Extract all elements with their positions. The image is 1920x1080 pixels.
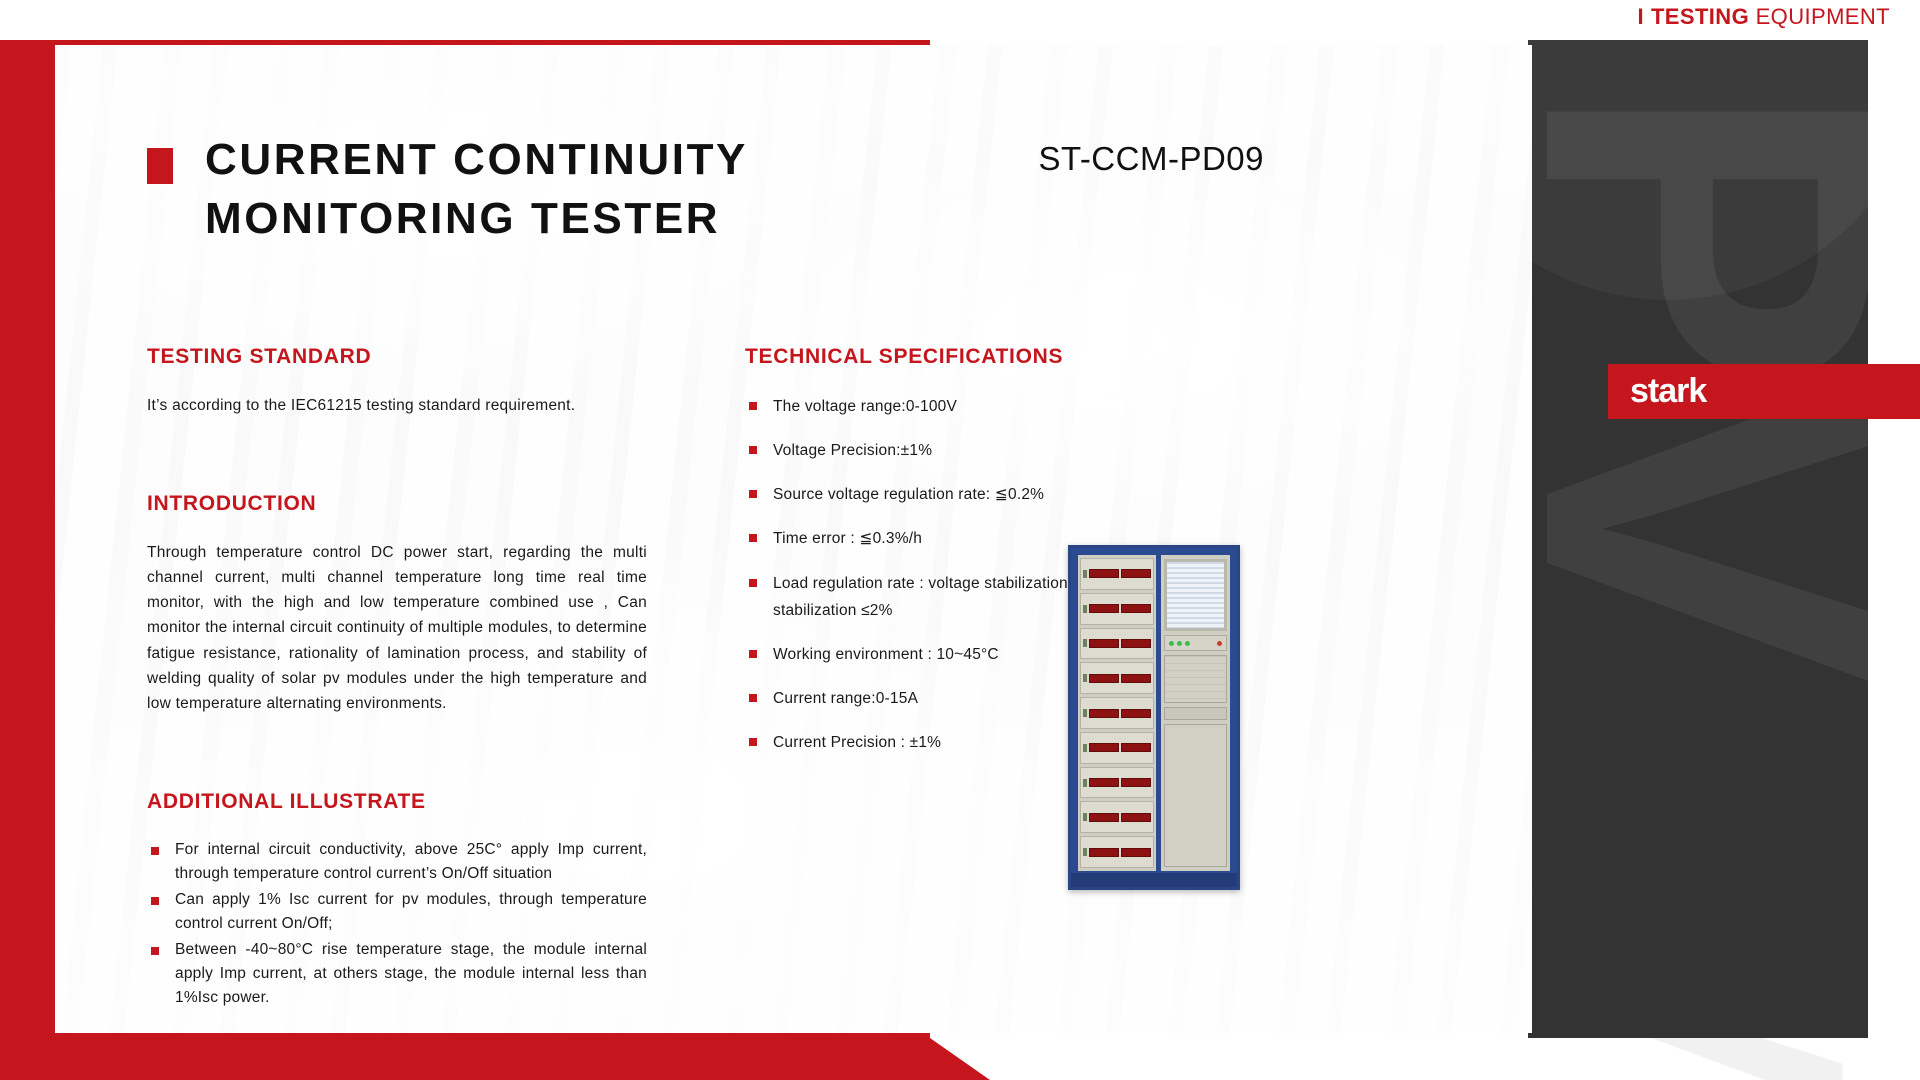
status-led-icon <box>1083 779 1087 787</box>
display-icon <box>1121 778 1151 787</box>
power-led-icon <box>1185 641 1190 646</box>
dark-side-panel: PV <box>1528 40 1868 1038</box>
rack-lower-panel <box>1164 724 1227 867</box>
header-title-light: EQUIPMENT <box>1756 4 1890 29</box>
rack-module <box>1080 558 1154 590</box>
content-card: CURRENT CONTINUITY MONITORING TESTER ST-… <box>55 45 1532 1033</box>
brand-logo-text: stark <box>1630 372 1706 411</box>
status-led-icon <box>1083 605 1087 613</box>
list-item: The voltage range:0-100V <box>745 393 1225 420</box>
status-led-icon <box>1083 639 1087 647</box>
status-led-icon <box>1083 709 1087 717</box>
status-led-icon <box>1083 744 1087 752</box>
top-header: ITESTING EQUIPMENT <box>0 0 1920 40</box>
left-column: TESTING STANDARD It’s according to the I… <box>147 345 647 1012</box>
rack-computer-unit <box>1164 655 1227 703</box>
model-number: ST-CCM-PD09 <box>1038 140 1264 178</box>
header-bar-glyph: I <box>1637 4 1644 29</box>
brand-logo-band: stark <box>1608 364 1920 419</box>
status-led-icon <box>1083 848 1087 856</box>
status-led-icon <box>1083 674 1087 682</box>
list-item: Between -40~80°C rise temperature stage,… <box>147 938 647 1010</box>
display-icon <box>1121 848 1151 857</box>
display-icon <box>1089 709 1119 718</box>
alarm-led-icon <box>1217 641 1222 646</box>
title-row: CURRENT CONTINUITY MONITORING TESTER <box>147 130 1007 249</box>
display-icon <box>1089 778 1119 787</box>
display-icon <box>1089 569 1119 578</box>
display-icon <box>1121 709 1151 718</box>
display-icon <box>1089 639 1119 648</box>
card-content: CURRENT CONTINUITY MONITORING TESTER ST-… <box>55 45 1532 1033</box>
display-icon <box>1089 743 1119 752</box>
display-icon <box>1121 813 1151 822</box>
display-icon <box>1121 569 1151 578</box>
testing-standard-heading: TESTING STANDARD <box>147 345 647 369</box>
display-icon <box>1089 848 1119 857</box>
rack-module <box>1080 836 1154 868</box>
list-item: Can apply 1% Isc current for pv modules,… <box>147 888 647 936</box>
rack-base <box>1071 873 1237 887</box>
list-item: Source voltage regulation rate: ≦0.2% <box>745 481 1225 508</box>
display-icon <box>1121 674 1151 683</box>
introduction-text: Through temperature control DC power sta… <box>147 540 647 716</box>
rack-module <box>1080 697 1154 729</box>
rack-module <box>1080 767 1154 799</box>
header-title: ITESTING EQUIPMENT <box>1637 4 1890 30</box>
status-led-icon <box>1083 570 1087 578</box>
introduction-heading: INTRODUCTION <box>147 492 647 516</box>
display-icon <box>1089 674 1119 683</box>
rack-module <box>1080 593 1154 625</box>
technical-specifications-heading: TECHNICAL SPECIFICATIONS <box>745 345 1225 369</box>
list-item: Voltage Precision:±1% <box>745 437 1225 464</box>
testing-standard-text: It’s according to the IEC61215 testing s… <box>147 393 647 418</box>
header-title-strong: TESTING <box>1651 4 1749 29</box>
rack-module-stack <box>1078 555 1156 871</box>
rack-module <box>1080 801 1154 833</box>
rack-module <box>1080 628 1154 660</box>
display-icon <box>1121 743 1151 752</box>
rack-control-column <box>1161 555 1230 871</box>
display-icon <box>1121 639 1151 648</box>
additional-illustrate-list: For internal circuit conductivity, above… <box>147 838 647 1010</box>
rack-control-strip <box>1164 635 1227 651</box>
rack-frame <box>1068 545 1240 890</box>
page-title: CURRENT CONTINUITY MONITORING TESTER <box>205 130 1007 249</box>
slide-page: stark PV PV ITESTING EQUIPMENT CURRENT C… <box>0 0 1920 1080</box>
rack-module <box>1080 662 1154 694</box>
power-led-icon <box>1177 641 1182 646</box>
rack-monitor-screen <box>1164 559 1227 631</box>
list-item: For internal circuit conductivity, above… <box>147 838 647 886</box>
additional-illustrate-heading: ADDITIONAL ILLUSTRATE <box>147 790 647 814</box>
status-led-icon <box>1083 813 1087 821</box>
display-icon <box>1089 813 1119 822</box>
rack-nameplate <box>1164 707 1227 720</box>
power-led-icon <box>1169 641 1174 646</box>
display-icon <box>1121 604 1151 613</box>
product-photo <box>1068 545 1240 890</box>
display-icon <box>1089 604 1119 613</box>
rack-module <box>1080 732 1154 764</box>
title-accent-square <box>147 148 173 184</box>
